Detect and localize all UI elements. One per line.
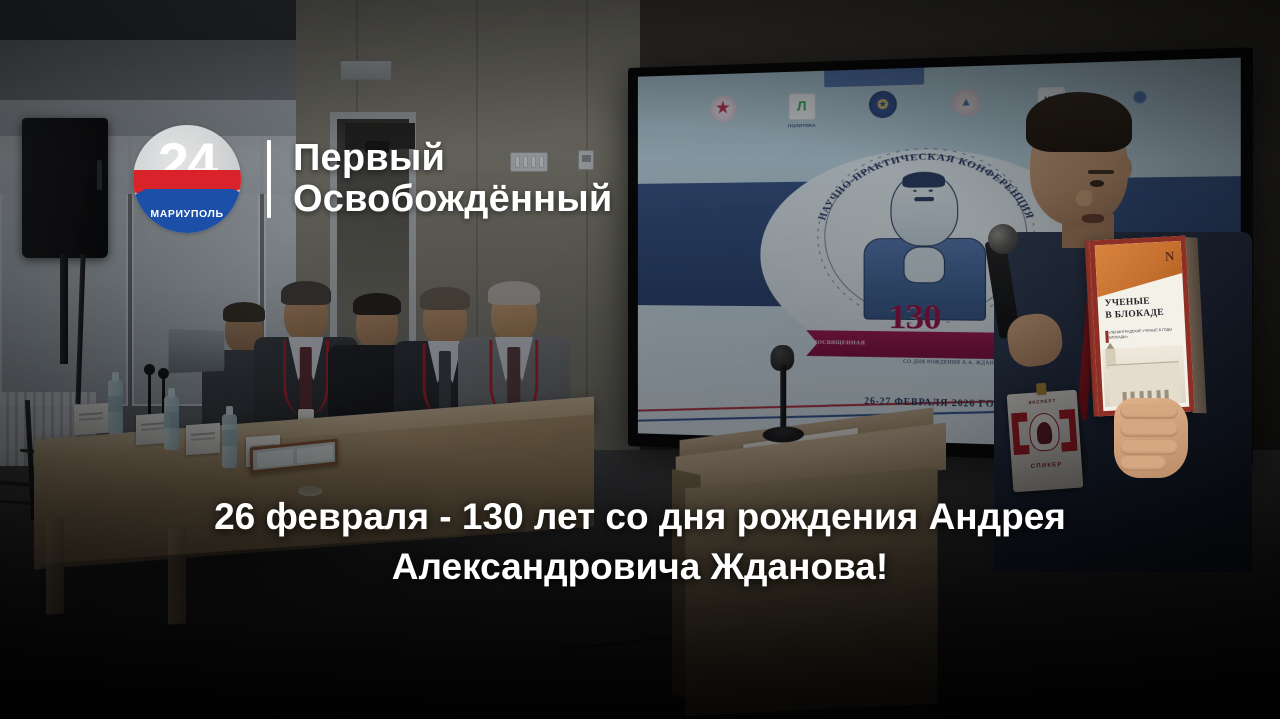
- channel-city: МАРИУПОЛЬ: [133, 208, 241, 220]
- publisher-mark: N: [1165, 248, 1175, 264]
- book-subtitle: «ЛЕНИНГРАДСКИЕ УЧЕНЫЕ В ГОДЫ БЛОКАДЫ»: [1108, 327, 1174, 341]
- held-book: N УЧЕНЫЕ В БЛОКАДЕ «ЛЕНИНГРАДСКИЕ УЧЕНЫЕ…: [1089, 236, 1194, 417]
- book-title: УЧЕНЫЕ В БЛОКАДЕ: [1105, 295, 1175, 322]
- channel-branding: 24 МАРИУПОЛЬ Первый Освобождённый: [133, 125, 612, 233]
- caption-line-2: Александровича Жданова!: [120, 542, 1160, 592]
- channel-logo: 24 МАРИУПОЛЬ: [133, 125, 241, 233]
- broadcast-frame: ПОЛИТИКА НАУЧНО-ПРАКТ: [0, 0, 1280, 719]
- broadcast-overlay: 24 МАРИУПОЛЬ Первый Освобождённый 26 фев…: [0, 0, 1280, 719]
- lower-third-caption: 26 февраля - 130 лет со дня рождения Анд…: [0, 492, 1280, 593]
- tagline-line-2: Освобождённый: [293, 179, 612, 220]
- tagline-line-1: Первый: [293, 138, 612, 179]
- book-title-line2: В БЛОКАДЕ: [1105, 307, 1174, 322]
- caption-line-1: 26 февраля - 130 лет со дня рождения Анд…: [120, 492, 1160, 542]
- speaker-hand-right: [1114, 398, 1188, 478]
- brand-divider: [267, 140, 271, 218]
- book-cover: N УЧЕНЫЕ В БЛОКАДЕ «ЛЕНИНГРАДСКИЕ УЧЕНЫЕ…: [1089, 236, 1194, 417]
- channel-tagline: Первый Освобождённый: [293, 138, 612, 220]
